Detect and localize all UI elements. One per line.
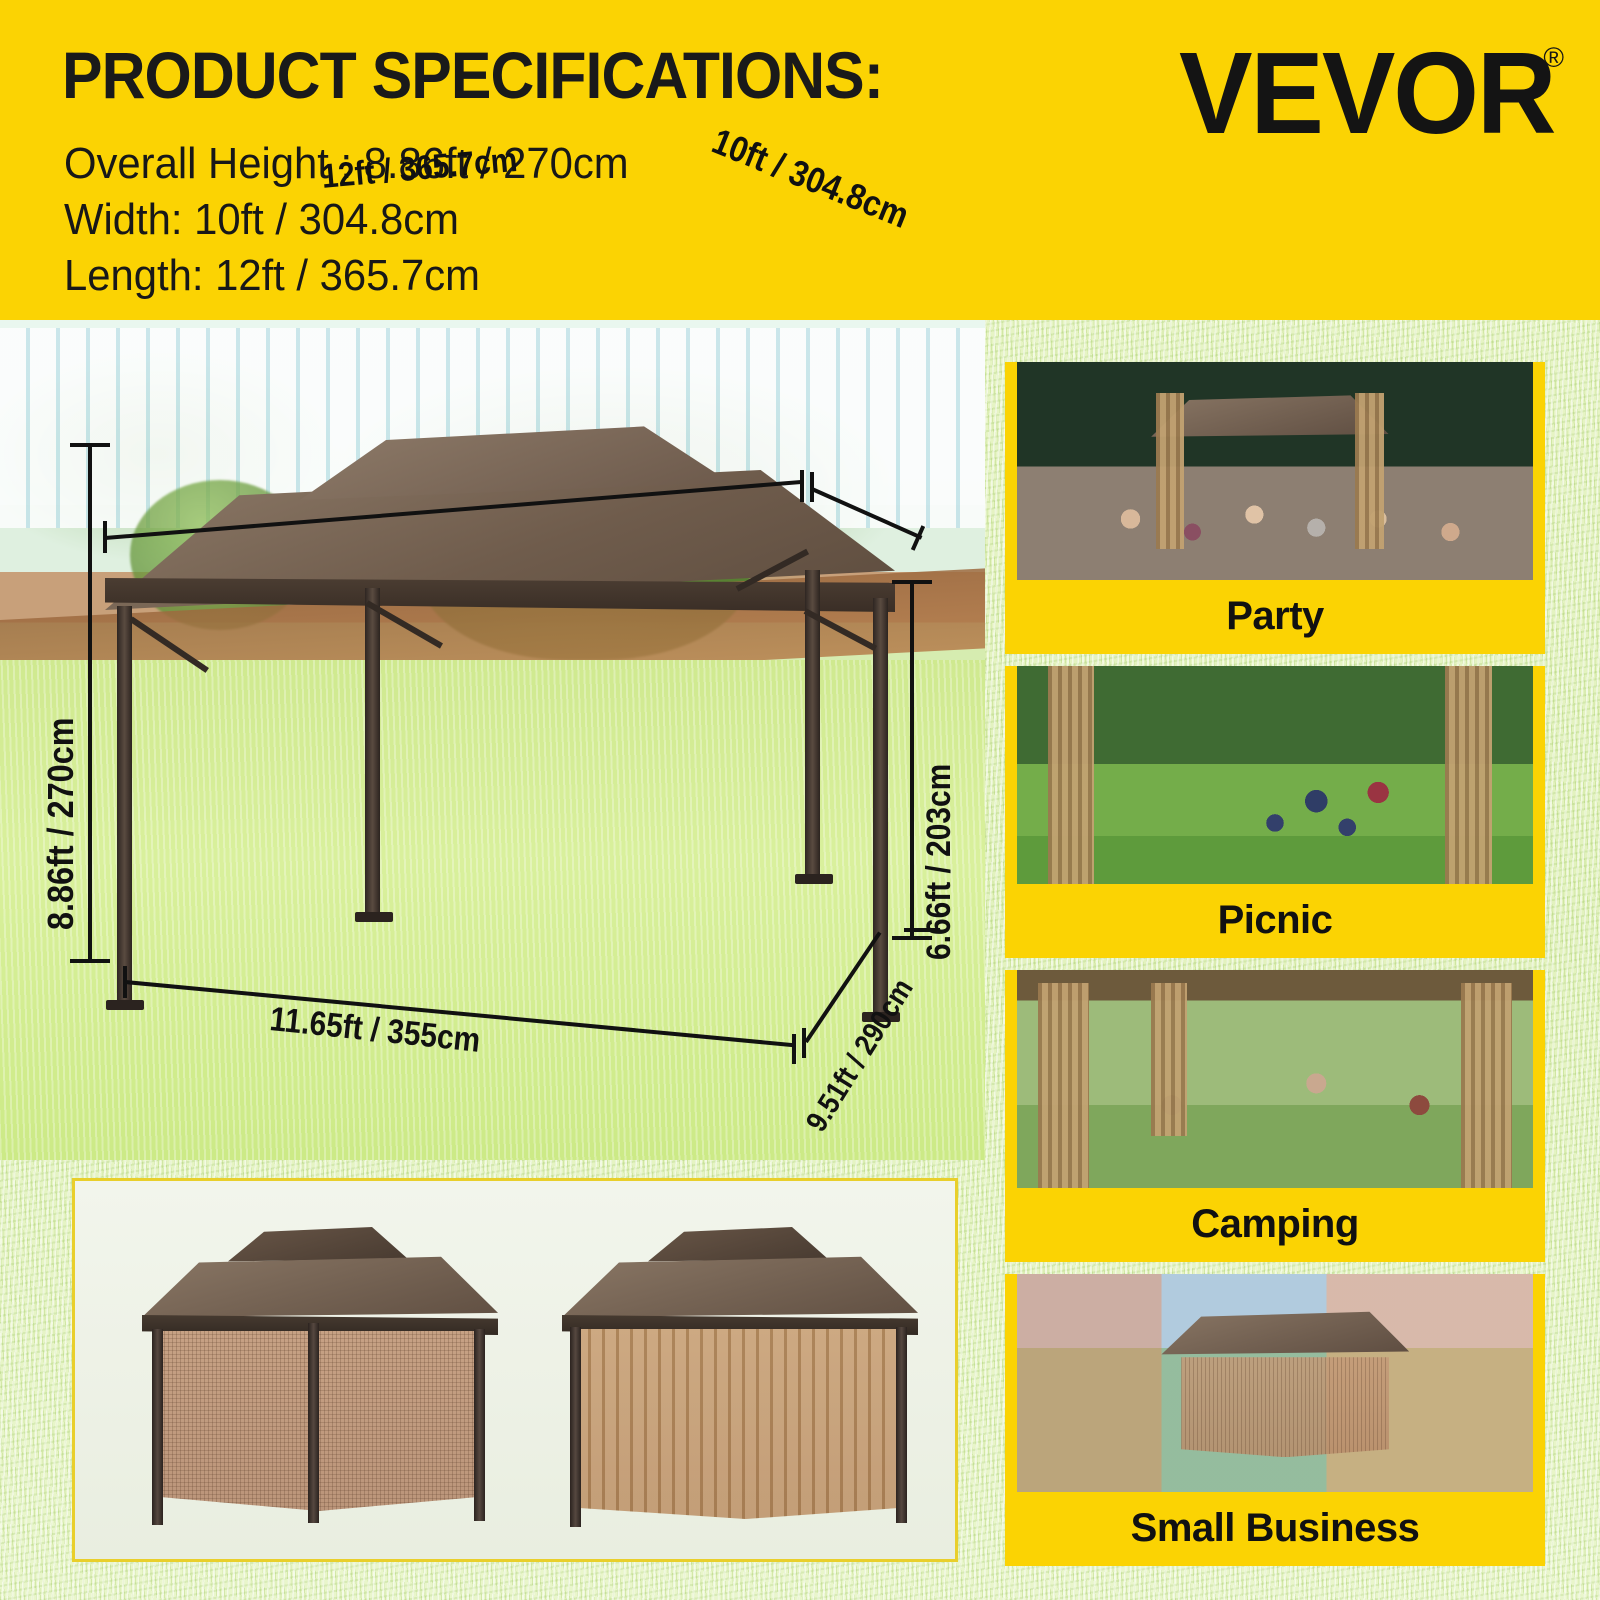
camping-curtain-mid — [1151, 983, 1187, 1136]
brace-1 — [129, 617, 209, 673]
tick-clear-height-top — [892, 580, 932, 584]
roof-fascia — [105, 578, 895, 612]
spec-width: Width: 10ft / 304.8cm — [64, 198, 459, 242]
party-gazebo-icon — [1151, 393, 1388, 550]
post-back-left — [365, 588, 380, 918]
camping-photo — [1017, 970, 1533, 1188]
gazebo-illustration — [105, 410, 895, 1030]
page-title: PRODUCT SPECIFICATIONS: — [62, 42, 883, 108]
foot-back-right — [795, 874, 833, 884]
picnic-photo — [1017, 666, 1533, 884]
variant-comparison-card — [72, 1178, 958, 1562]
tick-overall-height-top — [70, 443, 110, 447]
use-case-camping[interactable]: Camping — [1005, 970, 1545, 1262]
use-case-panel-list: Party Picnic Camping S — [1005, 350, 1545, 1574]
small-business-photo — [1017, 1274, 1533, 1492]
foot-back-left — [355, 912, 393, 922]
dimline-overall-height — [88, 443, 92, 963]
use-case-party[interactable]: Party — [1005, 362, 1545, 654]
use-case-label-small-business: Small Business — [1005, 1492, 1545, 1566]
tick-base-length-left — [123, 966, 127, 998]
use-case-label-camping: Camping — [1005, 1188, 1545, 1262]
brand-name: VEVOR — [1179, 40, 1554, 148]
party-roof — [1151, 393, 1388, 440]
use-case-label-party: Party — [1005, 580, 1545, 654]
dimlabel-overall-height: 8.86ft / 270cm — [40, 717, 82, 930]
variant-right-roof-vent — [648, 1223, 828, 1263]
variant-left-roof-vent — [228, 1223, 408, 1263]
tick-top-width-start — [810, 472, 814, 502]
hero-product-photo — [0, 320, 985, 1160]
party-curtain-left — [1156, 393, 1184, 550]
use-case-label-picnic: Picnic — [1005, 884, 1545, 958]
use-case-picnic[interactable]: Picnic — [1005, 666, 1545, 958]
variant-left-post-c — [474, 1329, 485, 1521]
infographic-page: PRODUCT SPECIFICATIONS: Overall Height :… — [0, 0, 1600, 1600]
foot-front-left — [106, 1000, 144, 1010]
variant-right-roof — [562, 1251, 918, 1323]
variant-right-post-b — [896, 1327, 907, 1523]
use-case-small-business[interactable]: Small Business — [1005, 1274, 1545, 1566]
post-front-left — [117, 606, 132, 1006]
party-curtain-right — [1355, 393, 1383, 550]
small-business-roof — [1161, 1309, 1409, 1357]
dimline-clear-height — [910, 580, 914, 940]
variant-left-post-b — [308, 1323, 319, 1523]
camping-curtain-left — [1038, 983, 1090, 1188]
small-business-mesh — [1181, 1357, 1389, 1457]
brand-logo: VEVOR ® — [1179, 40, 1564, 136]
variant-left-post-a — [152, 1329, 163, 1525]
tick-base-width-start — [802, 1028, 806, 1058]
tick-top-length-right — [800, 470, 804, 502]
party-photo — [1017, 362, 1533, 580]
variant-privacy-curtain-gazebo — [540, 1211, 940, 1531]
variant-mesh-netting-gazebo — [120, 1211, 520, 1531]
camping-curtain-right — [1461, 983, 1513, 1188]
tick-top-length-left — [103, 521, 107, 553]
variant-left-mesh-panel — [156, 1331, 482, 1511]
post-front-right — [873, 598, 888, 1018]
picnic-curtain-right — [1445, 666, 1491, 884]
spec-length: Length: 12ft / 365.7cm — [64, 254, 480, 298]
variant-right-curtain-panel — [574, 1329, 904, 1519]
variant-left-roof — [142, 1251, 498, 1323]
small-business-gazebo-icon — [1161, 1309, 1409, 1470]
variant-right-post-a — [570, 1327, 581, 1527]
picnic-curtain-left — [1048, 666, 1094, 884]
tick-base-length-right — [792, 1034, 796, 1064]
tick-base-width-end — [904, 928, 940, 932]
tick-overall-height-bottom — [70, 959, 110, 963]
